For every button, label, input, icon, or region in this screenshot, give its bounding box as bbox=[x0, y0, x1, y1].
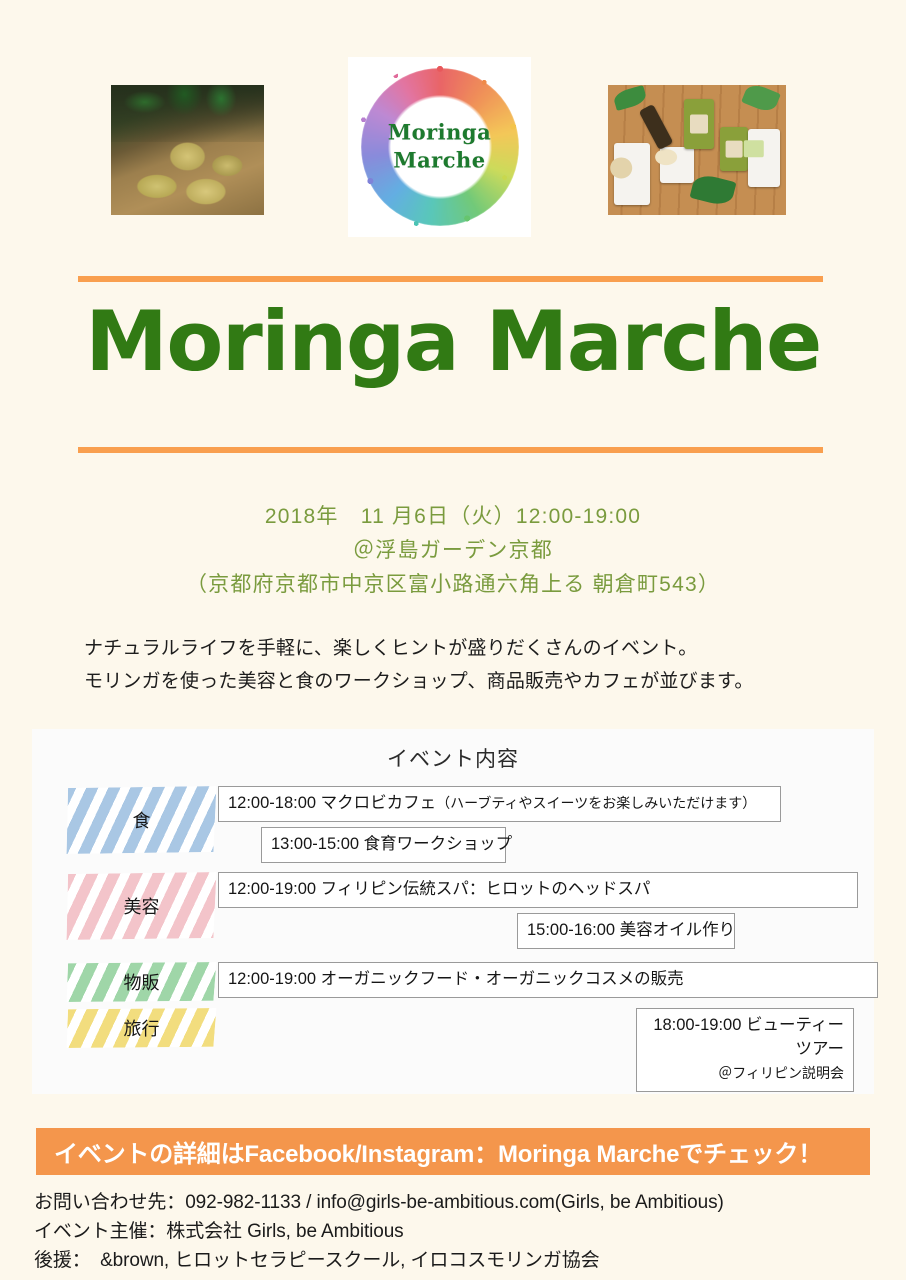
event-datetime: 2018年 11 月6日（火）12:00-19:00 bbox=[0, 500, 906, 534]
category-badge: 美容 bbox=[65, 872, 218, 940]
schedule-item: 12:00-19:00 フィリピン伝統スパ：ヒロットのヘッドスパ bbox=[218, 872, 858, 908]
footer-supporters-line: 後援： &brown, ヒロットセラピースクール, イロコスモリンガ協会 bbox=[34, 1247, 884, 1276]
page-title: Moringa Marche bbox=[0, 300, 906, 383]
product-pouch-1 bbox=[614, 143, 650, 205]
event-address: （京都府京都市中京区富小路通六角上る 朝倉町543） bbox=[0, 568, 906, 602]
photo-strip: Moringa Marche bbox=[0, 0, 906, 250]
schedule-item-label: ビューティーツアー bbox=[746, 1016, 844, 1058]
event-description: ナチュラルライフを手軽に、楽しくヒントが盛りだくさんのイベント。 モリンガを使っ… bbox=[84, 633, 824, 698]
category-badge: 物販 bbox=[65, 962, 218, 1002]
products-photo-scene bbox=[608, 85, 786, 215]
schedule-panel: イベント内容 食12:00-18:00 マクロビカフェ（ハーブティやスイーツをお… bbox=[32, 729, 874, 1094]
product-pouch-2 bbox=[748, 129, 780, 187]
schedule-item-label: 美容オイル作り bbox=[620, 921, 736, 939]
title-rule-top bbox=[78, 276, 823, 282]
schedule-rows: 食12:00-18:00 マクロビカフェ（ハーブティやスイーツをお楽しみいただけ… bbox=[32, 786, 874, 1062]
schedule-row: 食12:00-18:00 マクロビカフェ（ハーブティやスイーツをお楽しみいただけ… bbox=[32, 786, 874, 872]
schedule-item-time: 18:00-19:00 bbox=[653, 1016, 746, 1034]
schedule-item: 15:00-16:00 美容オイル作り bbox=[517, 913, 735, 949]
schedule-item-time: 12:00-19:00 bbox=[228, 970, 321, 988]
products-photo bbox=[608, 85, 786, 215]
flower-sprig-icon bbox=[741, 85, 781, 115]
schedule-track: 18:00-19:00 ビューティーツアー＠フィリピン説明会 bbox=[218, 1008, 874, 1012]
title-rule-bottom bbox=[78, 447, 823, 453]
schedule-row: 旅行18:00-19:00 ビューティーツアー＠フィリピン説明会 bbox=[32, 1008, 874, 1062]
schedule-item: 12:00-18:00 マクロビカフェ（ハーブティやスイーツをお楽しみいただけま… bbox=[218, 786, 781, 822]
footer-contact-line: お問い合わせ先：092-982-1133 / info@girls-be-amb… bbox=[34, 1189, 884, 1218]
scones-photo-scene bbox=[111, 85, 264, 215]
scones-photo bbox=[111, 85, 264, 215]
schedule-item-label: 食育ワークショップ bbox=[364, 835, 513, 853]
schedule-item: 13:00-15:00 食育ワークショップ bbox=[261, 827, 506, 863]
schedule-item: 18:00-19:00 ビューティーツアー＠フィリピン説明会 bbox=[636, 1008, 854, 1092]
schedule-item-label: フィリピン伝統スパ：ヒロットのヘッドスパ bbox=[321, 880, 651, 898]
logo-text-line1: Moringa bbox=[388, 119, 491, 147]
schedule-row: 美容12:00-19:00 フィリピン伝統スパ：ヒロットのヘッドスパ15:00-… bbox=[32, 872, 874, 962]
schedule-item-time: 12:00-18:00 bbox=[228, 794, 321, 812]
event-venue: ＠浮島ガーデン京都 bbox=[0, 534, 906, 568]
schedule-item: 12:00-19:00 オーガニックフード・オーガニックコスメの販売 bbox=[218, 962, 878, 998]
category-badge-label: 食 bbox=[133, 807, 151, 833]
schedule-item-note: （ハーブティやスイーツをお楽しみいただけます） bbox=[436, 795, 756, 811]
monstera-leaf-icon bbox=[689, 172, 736, 207]
schedule-item-time: 12:00-19:00 bbox=[228, 880, 321, 898]
logo-text: Moringa Marche bbox=[388, 119, 491, 176]
category-badge-label: 旅行 bbox=[124, 1015, 160, 1041]
category-badge-label: 物販 bbox=[124, 969, 160, 995]
product-jar-2 bbox=[684, 99, 714, 149]
event-description-line1: ナチュラルライフを手軽に、楽しくヒントが盛りだくさんのイベント。 bbox=[84, 633, 824, 666]
category-badge: 旅行 bbox=[65, 1008, 218, 1048]
event-meta: 2018年 11 月6日（火）12:00-19:00 ＠浮島ガーデン京都 （京都… bbox=[0, 500, 906, 602]
logo-text-line2: Marche bbox=[388, 147, 491, 175]
schedule-item-label: オーガニックフード・オーガニックコスメの販売 bbox=[321, 970, 684, 988]
schedule-item-time: 13:00-15:00 bbox=[271, 835, 364, 853]
schedule-track: 12:00-19:00 フィリピン伝統スパ：ヒロットのヘッドスパ15:00-16… bbox=[218, 872, 874, 876]
cta-banner[interactable]: イベントの詳細はFacebook/Instagram：Moringa March… bbox=[36, 1128, 870, 1175]
schedule-heading: イベント内容 bbox=[32, 729, 874, 773]
schedule-track: 12:00-19:00 オーガニックフード・オーガニックコスメの販売 bbox=[218, 962, 874, 966]
product-jar-1 bbox=[660, 147, 694, 183]
category-badge-label: 美容 bbox=[124, 893, 160, 919]
schedule-track: 12:00-18:00 マクロビカフェ（ハーブティやスイーツをお楽しみいただけま… bbox=[218, 786, 874, 790]
schedule-item-label: マクロビカフェ bbox=[321, 794, 437, 812]
schedule-row: 物販12:00-19:00 オーガニックフード・オーガニックコスメの販売 bbox=[32, 962, 874, 1008]
event-description-line2: モリンガを使った美容と食のワークショップ、商品販売やカフェが並びます。 bbox=[84, 666, 824, 699]
footer-contact: お問い合わせ先：092-982-1133 / info@girls-be-amb… bbox=[34, 1189, 884, 1276]
schedule-item-time: 15:00-16:00 bbox=[527, 921, 620, 939]
moringa-marche-logo: Moringa Marche bbox=[348, 57, 531, 237]
herb-sprig-icon bbox=[612, 85, 648, 111]
schedule-item-note: ＠フィリピン説明会 bbox=[718, 1065, 844, 1081]
category-badge: 食 bbox=[65, 786, 218, 854]
footer-organizer-line: イベント主催：株式会社 Girls, be Ambitious bbox=[34, 1218, 884, 1247]
